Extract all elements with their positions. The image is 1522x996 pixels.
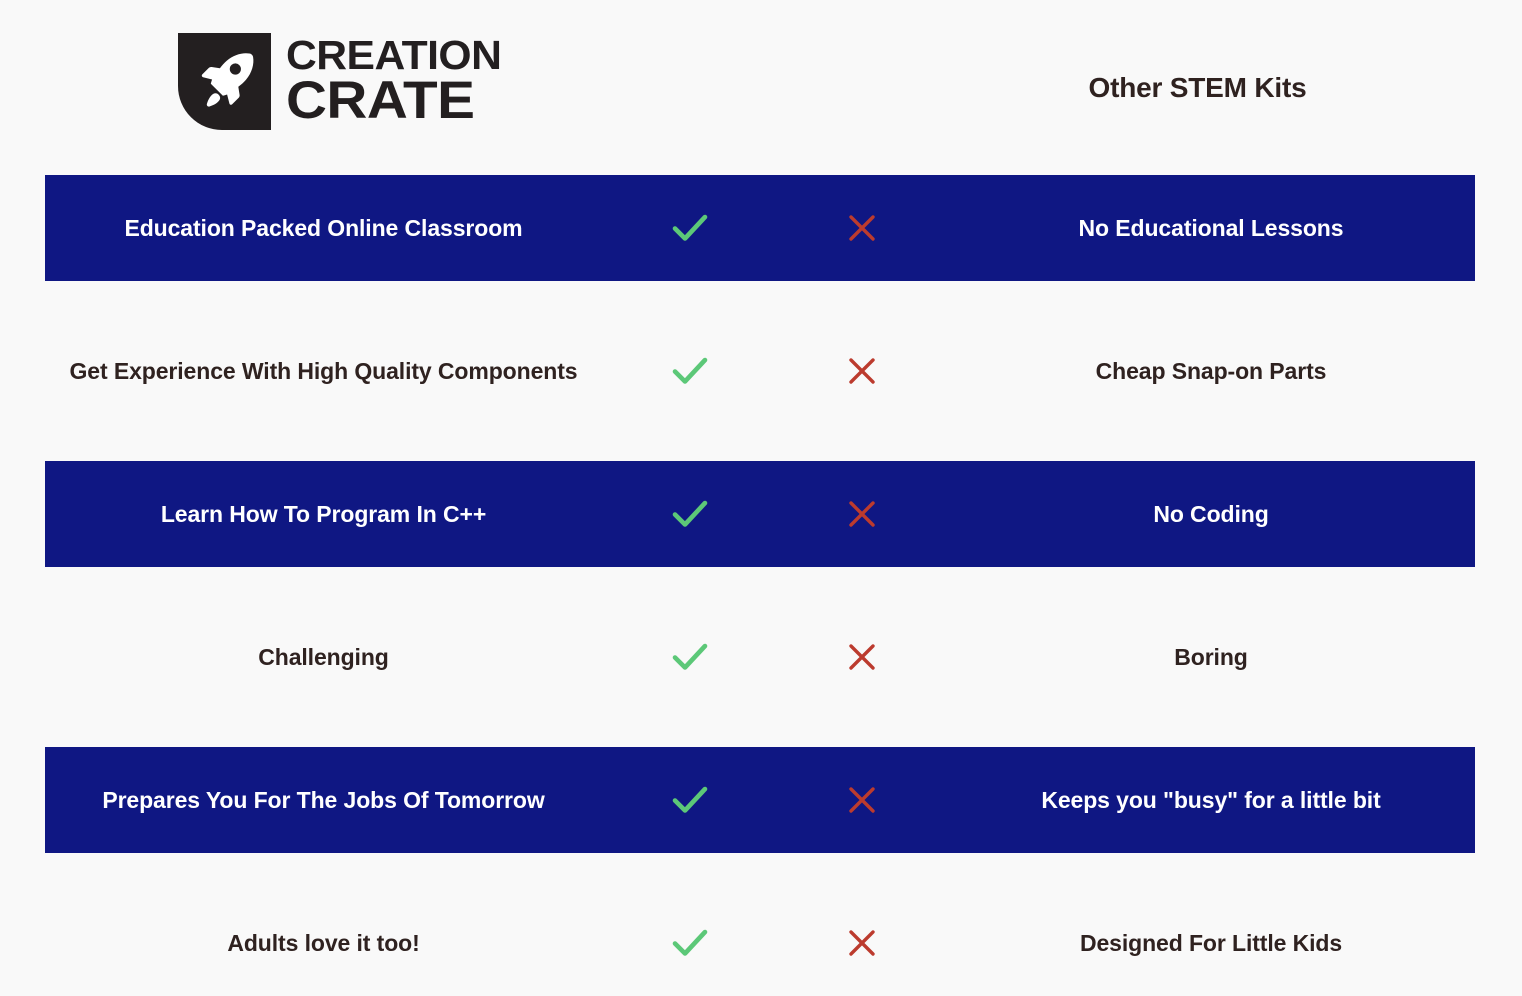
other-kits-cell [777, 785, 947, 815]
check-icon [672, 785, 708, 815]
feature-label: Adults love it too! [45, 928, 602, 958]
other-kits-cell [777, 213, 947, 243]
x-icon [847, 356, 877, 386]
feature-label: Learn How To Program In C++ [45, 499, 602, 529]
table-row: Learn How To Program In C++ No Coding [45, 461, 1475, 567]
feature-label: Get Experience With High Quality Compone… [45, 356, 602, 386]
other-kits-label: Cheap Snap-on Parts [947, 356, 1475, 386]
creation-crate-cell [602, 356, 777, 386]
other-kits-cell [777, 499, 947, 529]
feature-label: Prepares You For The Jobs Of Tomorrow [45, 785, 602, 815]
check-icon [672, 356, 708, 386]
row-spacer [45, 567, 1475, 604]
creation-crate-cell [602, 928, 777, 958]
other-stem-kits-title: Other STEM Kits [920, 0, 1475, 175]
brand-line-1: CREATION [286, 37, 501, 75]
other-kits-label: No Coding [947, 499, 1475, 529]
row-spacer [45, 281, 1475, 318]
x-icon [847, 642, 877, 672]
x-icon [847, 213, 877, 243]
check-icon [672, 928, 708, 958]
creation-crate-cell [602, 499, 777, 529]
row-spacer [45, 710, 1475, 747]
other-kits-cell [777, 928, 947, 958]
row-spacer [45, 424, 1475, 461]
other-kits-cell [777, 642, 947, 672]
table-row: Get Experience With High Quality Compone… [45, 318, 1475, 424]
creation-crate-cell [602, 642, 777, 672]
brand-wordmark: CREATION CRATE [286, 37, 493, 125]
check-icon [672, 499, 708, 529]
comparison-table: Education Packed Online Classroom No Edu… [45, 175, 1475, 996]
creation-crate-cell [602, 213, 777, 243]
other-kits-label: Boring [947, 642, 1475, 672]
table-row: Prepares You For The Jobs Of Tomorrow Ke… [45, 747, 1475, 853]
check-icon [672, 213, 708, 243]
x-icon [847, 499, 877, 529]
other-kits-label: Keeps you "busy" for a little bit [947, 785, 1475, 815]
creation-crate-cell [602, 785, 777, 815]
other-kits-cell [777, 356, 947, 386]
table-row: Challenging Boring [45, 604, 1475, 710]
row-spacer [45, 853, 1475, 890]
comparison-table-page: CREATION CRATE Other STEM Kits Education… [0, 0, 1522, 930]
other-kits-label: Designed For Little Kids [947, 928, 1475, 958]
feature-label: Education Packed Online Classroom [45, 213, 602, 243]
feature-label: Challenging [45, 642, 602, 672]
x-icon [847, 928, 877, 958]
rocket-icon [178, 33, 271, 130]
table-row: Education Packed Online Classroom No Edu… [45, 175, 1475, 281]
creation-crate-logo: CREATION CRATE [178, 33, 493, 130]
table-row: Adults love it too! Designed For Little … [45, 890, 1475, 996]
page-header: CREATION CRATE Other STEM Kits [0, 0, 1522, 175]
x-icon [847, 785, 877, 815]
brand-line-2: CRATE [286, 77, 508, 126]
check-icon [672, 642, 708, 672]
other-kits-label: No Educational Lessons [947, 213, 1475, 243]
